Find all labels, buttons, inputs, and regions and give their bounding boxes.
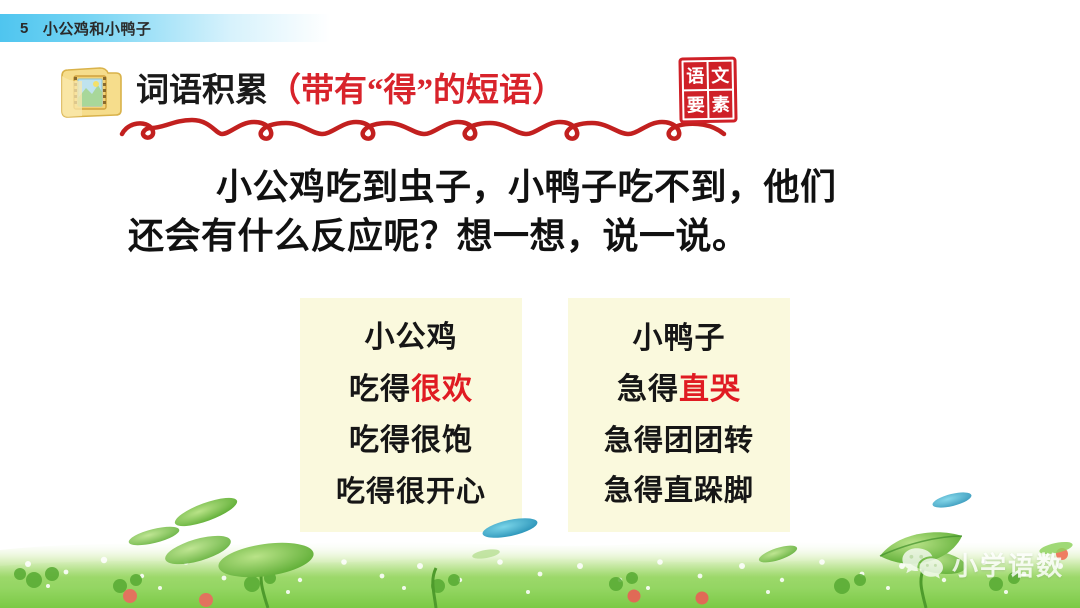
prompt-paragraph: 小公鸡吃到虫子，小鸭子吃不到，他们 还会有什么反应呢？想一想，说一说。: [120, 164, 960, 261]
phrase-box-duck-heading: 小鸭子: [633, 324, 726, 354]
prompt-line-2: 还会有什么反应呢？想一想，说一说。: [120, 213, 960, 262]
phrase-row-rooster-2: 吃得很饱: [349, 426, 473, 456]
header-breadcrumb: 5 小公鸡和小鸭子: [20, 14, 151, 42]
section-title-main: 词语积累: [136, 73, 268, 109]
lesson-number: 5: [20, 20, 29, 37]
seal-cell-3: 要: [684, 91, 707, 118]
language-element-seal: 语 文 要 素: [678, 56, 737, 123]
film-strip-icon: [56, 60, 124, 122]
seal-cell-1: 语: [684, 62, 707, 89]
section-title-text: 词语积累（带有“得”的短语）: [136, 75, 565, 108]
phrase-highlight: 很欢: [411, 373, 473, 406]
phrase-row-duck-2: 急得团团转: [604, 427, 754, 456]
phrase-highlight: 直哭: [679, 373, 741, 406]
section-title-parenthetical: （带有“得”的短语）: [268, 73, 565, 109]
lesson-title: 小公鸡和小鸭子: [43, 18, 152, 39]
meadow-illustration: [0, 488, 1080, 608]
red-wave-divider: [118, 112, 728, 146]
phrase-prefix: 吃得: [349, 373, 411, 406]
seal-cell-2: 文: [709, 62, 732, 89]
phrase-prefix: 急得: [617, 373, 679, 406]
seal-cell-4: 素: [709, 91, 732, 118]
slide-canvas: 5 小公鸡和小鸭子 词语积: [0, 0, 1080, 608]
phrase-row-duck-1: 急得直哭: [617, 375, 741, 405]
phrase-box-rooster-heading: 小公鸡: [365, 323, 458, 353]
phrase-row-rooster-1: 吃得很欢: [349, 375, 473, 405]
prompt-line-1: 小公鸡吃到虫子，小鸭子吃不到，他们: [120, 164, 960, 213]
